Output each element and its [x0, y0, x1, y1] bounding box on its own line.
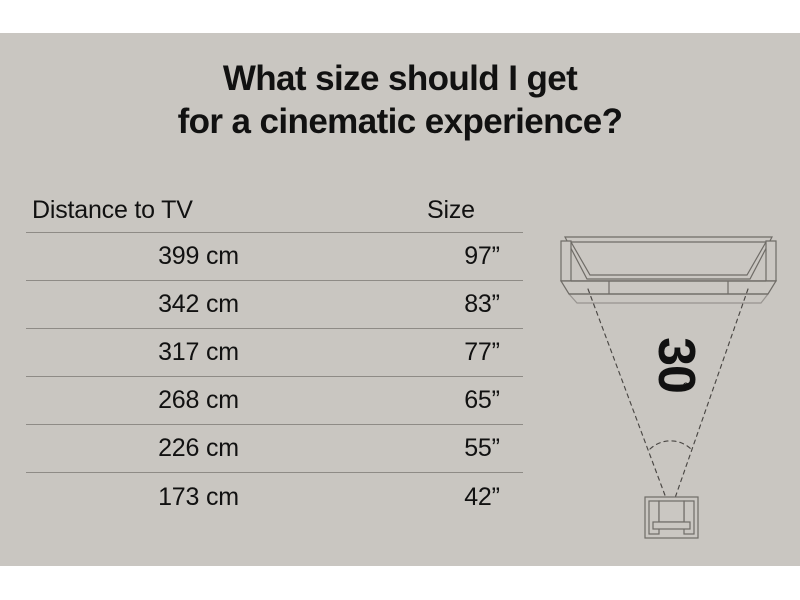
page-title: What size should I get for a cinematic e…: [0, 57, 800, 143]
cell-size: 97”: [461, 242, 523, 271]
table-header-row: Distance to TV Size: [26, 188, 523, 233]
sofa-icon: [645, 497, 698, 538]
cell-size: 42”: [461, 483, 523, 512]
cell-size: 83”: [461, 290, 523, 319]
table-row: 399 cm 97”: [26, 233, 523, 281]
infographic-canvas: What size should I get for a cinematic e…: [0, 0, 800, 600]
degree-symbol: °: [682, 381, 690, 400]
cell-distance: 268 cm: [26, 386, 461, 415]
sofa-seat-cushion: [653, 522, 690, 529]
cell-distance: 173 cm: [26, 483, 461, 512]
angle-value: 30: [648, 330, 704, 400]
cell-distance: 342 cm: [26, 290, 461, 319]
cell-distance: 226 cm: [26, 434, 461, 463]
cell-size: 65”: [461, 386, 523, 415]
sofa-backrest: [659, 501, 684, 522]
infographic-panel: What size should I get for a cinematic e…: [0, 33, 800, 566]
column-header-distance: Distance to TV: [26, 196, 377, 225]
size-distance-table: Distance to TV Size 399 cm 97” 342 cm 83…: [26, 188, 523, 521]
title-line-2: for a cinematic experience?: [0, 100, 800, 143]
cell-distance: 317 cm: [26, 338, 461, 367]
angle-label: 30 °: [648, 330, 704, 400]
cell-distance: 399 cm: [26, 242, 461, 271]
cell-size: 77”: [461, 338, 523, 367]
table-row: 268 cm 65”: [26, 377, 523, 425]
table-row: 226 cm 55”: [26, 425, 523, 473]
column-header-size: Size: [377, 196, 523, 225]
angle-arc: [650, 441, 693, 451]
tv-icon: [561, 237, 776, 303]
title-line-1: What size should I get: [0, 57, 800, 100]
table-row: 317 cm 77”: [26, 329, 523, 377]
table-row: 342 cm 83”: [26, 281, 523, 329]
table-row: 173 cm 42”: [26, 473, 523, 521]
cell-size: 55”: [461, 434, 523, 463]
